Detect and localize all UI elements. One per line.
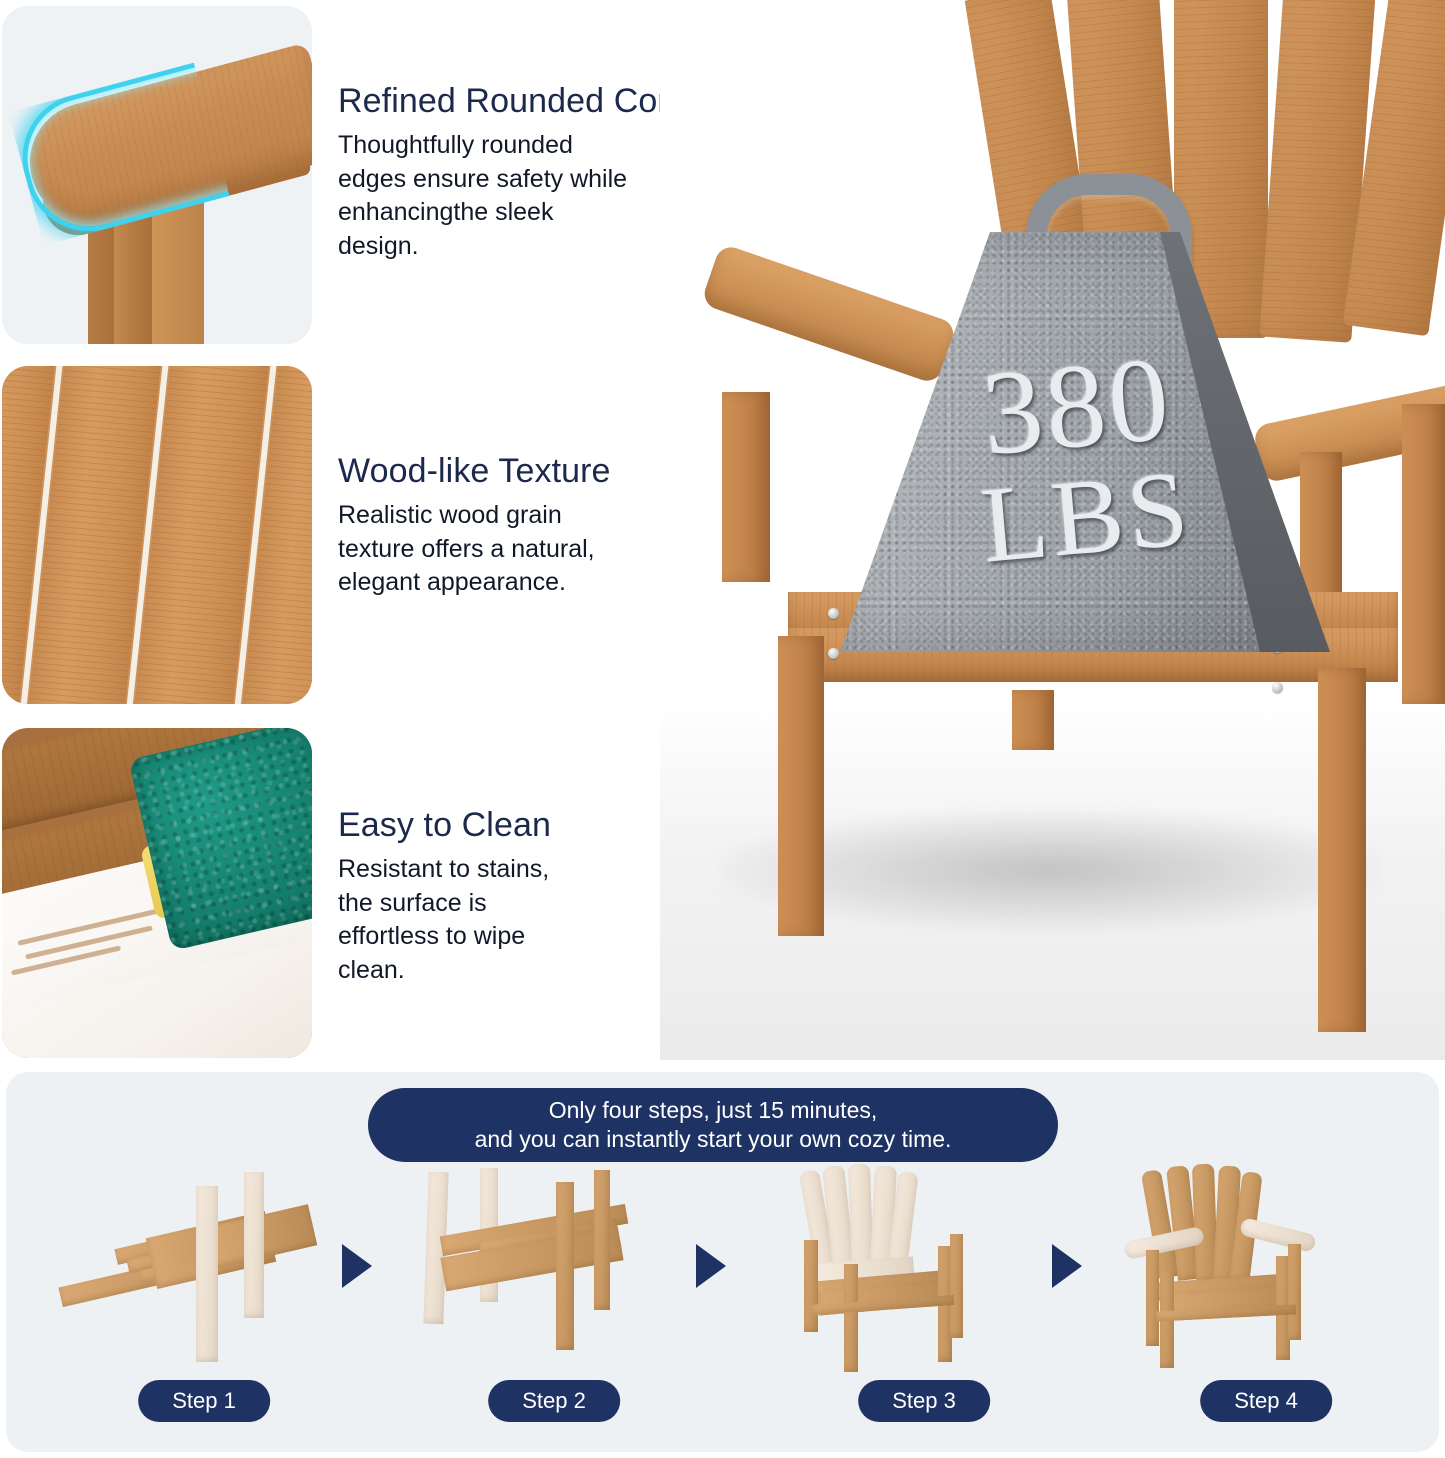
feature-body: Resistant to stains, the surface is effo… xyxy=(338,853,551,987)
step-4-illustration xyxy=(1116,1168,1416,1373)
feature-title: Wood-like Texture xyxy=(338,452,611,491)
cleaning-illustration xyxy=(2,728,312,1058)
feature-text-easy-clean: Easy to Clean Resistant to stains, the s… xyxy=(338,806,551,987)
step-3-badge: Step 3 xyxy=(858,1380,990,1422)
chair-leg-piece xyxy=(1288,1244,1301,1340)
armrest-illustration xyxy=(2,6,312,344)
chair-leg-piece xyxy=(844,1264,858,1372)
armrest-leg-right xyxy=(152,192,204,344)
weight-block: 380 LBS xyxy=(830,232,1330,652)
assembly-step-3: Step 3 xyxy=(774,1168,1074,1452)
callout-line-1: Only four steps, just 15 minutes, xyxy=(549,1096,878,1125)
assembly-step-1: Step 1 xyxy=(54,1168,354,1452)
step-2-badge: Step 2 xyxy=(488,1380,620,1422)
feature-body: Thoughtfully rounded edges ensure safety… xyxy=(338,129,638,263)
leg-piece xyxy=(594,1170,610,1310)
feature-column: Refined Rounded Corners Thoughtfully rou… xyxy=(0,0,330,1060)
callout-line-2: and you can instantly start your own coz… xyxy=(475,1125,952,1154)
step-arrow-3-icon xyxy=(1052,1244,1082,1288)
weight-capacity-label: 380 LBS xyxy=(813,211,1348,673)
armrest-post-piece xyxy=(1146,1250,1159,1346)
feature-image-rounded-corners xyxy=(2,6,312,344)
step-arrow-1-icon xyxy=(342,1244,372,1288)
assembly-step-4: Step 4 xyxy=(1116,1168,1416,1452)
weight-unit: LBS xyxy=(977,456,1196,580)
leg-piece xyxy=(556,1182,574,1350)
step-3-illustration xyxy=(774,1168,1074,1373)
leg-piece-highlight xyxy=(244,1172,264,1318)
armrest-post-piece xyxy=(804,1240,818,1332)
feature-title: Easy to Clean xyxy=(338,806,551,845)
step-arrow-2-icon xyxy=(696,1244,726,1288)
feature-image-wood-texture xyxy=(2,366,312,704)
hero-product-image: 380 LBS xyxy=(660,0,1445,1060)
chair-leg-front-right xyxy=(1318,668,1366,1032)
screw xyxy=(1272,682,1283,693)
assembly-panel: Only four steps, just 15 minutes, and yo… xyxy=(6,1072,1439,1452)
chair-leg-piece xyxy=(950,1234,963,1338)
assembly-step-2: Step 2 xyxy=(404,1168,704,1452)
step-4-badge: Step 4 xyxy=(1200,1380,1332,1422)
step-2-illustration xyxy=(404,1168,704,1373)
feature-text-wood-texture: Wood-like Texture Realistic wood grain t… xyxy=(338,452,611,600)
leg-piece-highlight xyxy=(196,1186,218,1362)
chair-leg-front-left xyxy=(778,636,824,936)
armrest-post-left xyxy=(722,392,770,582)
chair-leg-rear-right xyxy=(1402,404,1445,704)
feature-image-easy-clean xyxy=(2,728,312,1058)
step-1-illustration xyxy=(54,1168,354,1373)
wood-slats-illustration xyxy=(2,366,312,704)
feature-body: Realistic wood grain texture offers a na… xyxy=(338,499,611,600)
assembly-callout-banner: Only four steps, just 15 minutes, and yo… xyxy=(368,1088,1058,1162)
chair-leg-rear-center xyxy=(1012,690,1054,750)
step-1-badge: Step 1 xyxy=(138,1380,270,1422)
assembly-steps: Step 1 Step 2 xyxy=(6,1168,1439,1452)
